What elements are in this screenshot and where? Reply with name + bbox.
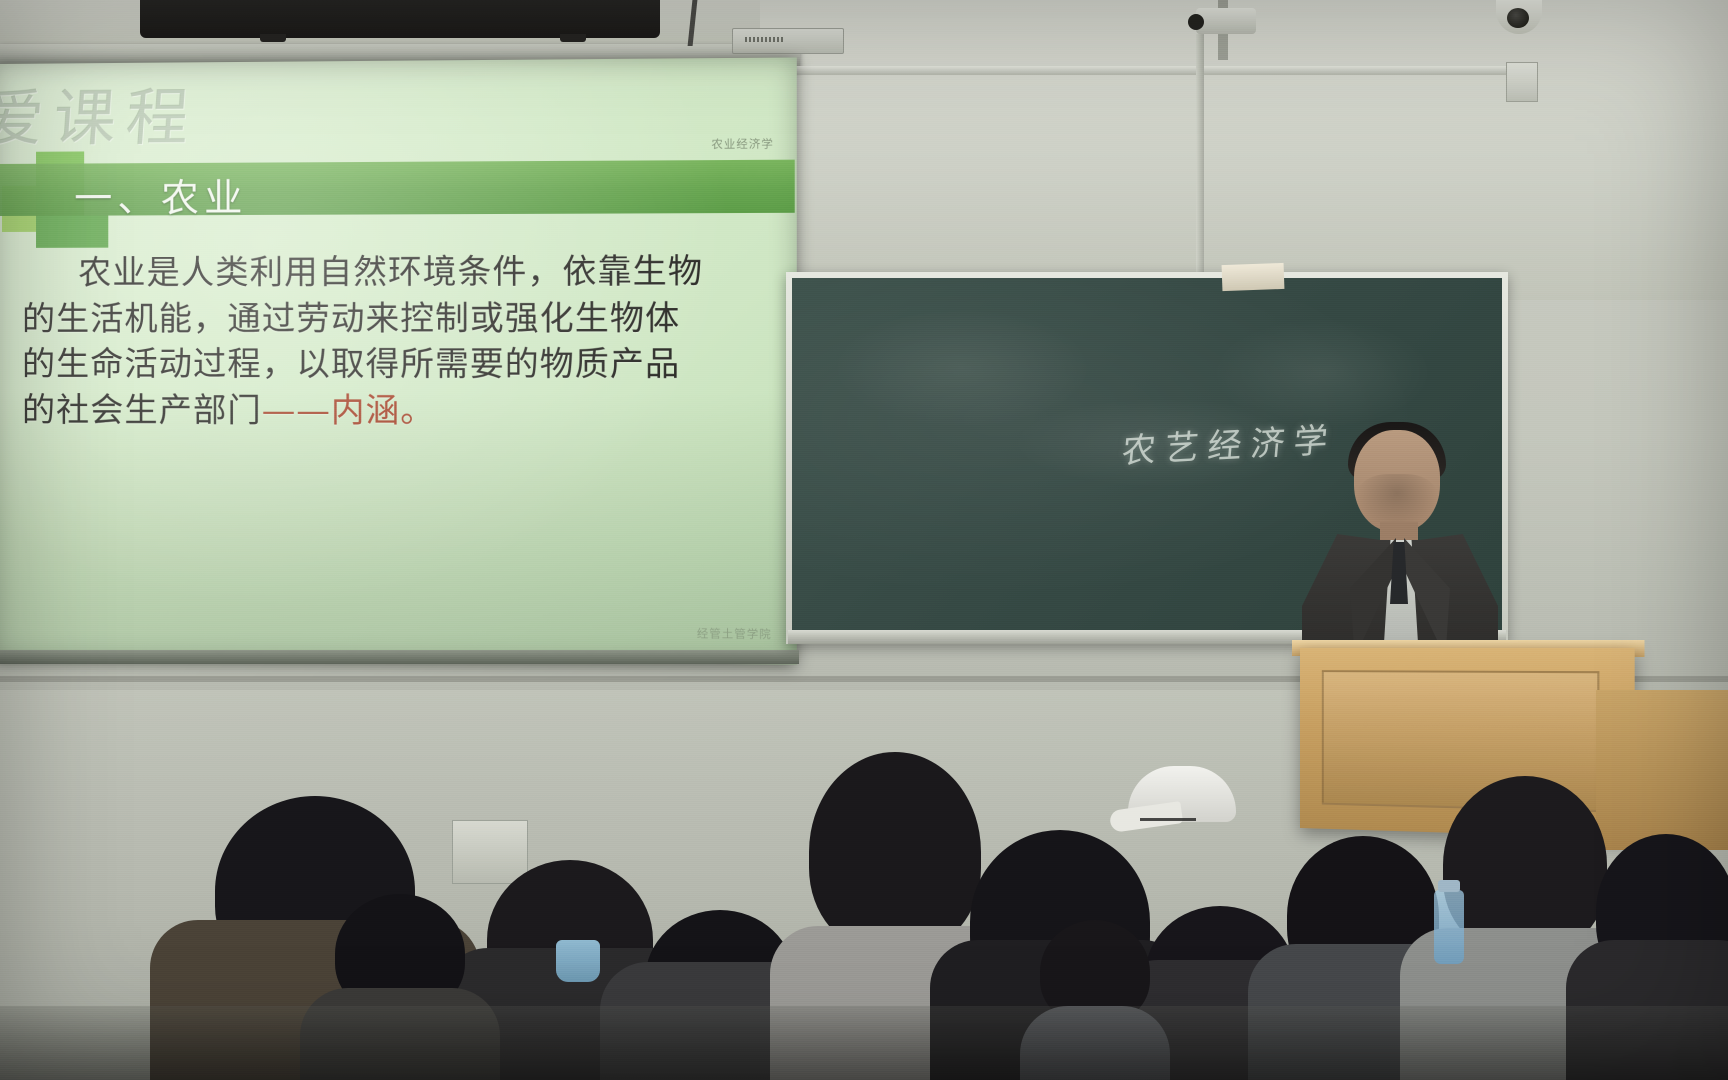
wall-junction-box [732, 28, 844, 54]
slide-title: 一、农业 [74, 167, 247, 223]
lecturer-face-shading [1356, 474, 1438, 528]
glasses-icon [1140, 818, 1196, 837]
slide-footer-label: 经管土管学院 [697, 625, 772, 642]
wall-outlet-plate [1506, 62, 1538, 102]
camera-lens-icon [1188, 14, 1204, 30]
wall-conduit-horizontal-2 [1196, 66, 1506, 75]
water-bottle-icon [1434, 890, 1464, 964]
security-camera-icon [1196, 8, 1256, 34]
slide-body-line-1: 农业是人类利用自然环境条件，依靠生物 [78, 251, 703, 292]
slide-body-line-2: 的生活机能，通过劳动来控制或强化生物体 [22, 297, 680, 337]
slide-body-line-3: 的生命活动过程，以取得所需要的物质产品 [22, 344, 680, 384]
wall-panel-right [760, 0, 1728, 300]
vent-grille-icon [745, 37, 785, 42]
front-desk-row [0, 1006, 1728, 1080]
slide-watermark: 爱课程 [0, 66, 202, 158]
projected-slide: 爱课程 农业经济学 一、农业 农业是人类利用自然环境条件，依靠生物 的生活机能，… [0, 57, 797, 664]
slide-header-right-label: 农业经济学 [711, 135, 773, 152]
dome-camera-lens-icon [1507, 8, 1529, 28]
ceiling-projector-icon [140, 0, 660, 38]
screen-bottom-bar [0, 650, 799, 664]
slide-body-line-4: 的社会生产部门 [22, 390, 262, 429]
lecture-video-frame: 爱课程 农业经济学 一、农业 农业是人类利用自然环境条件，依靠生物 的生活机能，… [0, 0, 1728, 1080]
drink-cup-icon [556, 940, 600, 982]
wall-conduit-vertical [1196, 34, 1204, 274]
slide-body-text: 农业是人类利用自然环境条件，依靠生物 的生活机能，通过劳动来控制或强化生物体 的… [22, 248, 753, 434]
slide-body-highlight: ——内涵。 [262, 390, 435, 430]
blackboard-taped-paper [1222, 263, 1285, 291]
water-bottle-cap [1438, 880, 1460, 892]
